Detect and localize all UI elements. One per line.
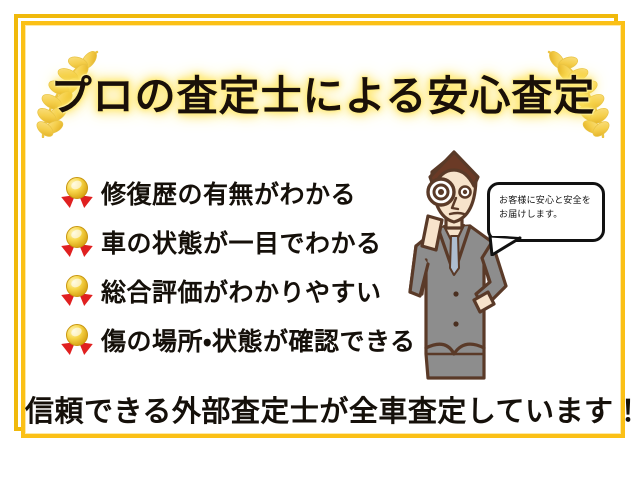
list-item: 車の状態が一目でわかる	[62, 217, 402, 266]
gold-medal-icon	[62, 226, 92, 257]
title-band: プロの査定士による安心査定	[25, 46, 621, 138]
page-title: プロの査定士による安心査定	[25, 46, 621, 138]
feature-label: 傷の場所・状態が確認できる	[101, 322, 416, 358]
banner-canvas: プロの査定士による安心査定 修復歴の有無がわかる 車の状態が一目でわかる	[0, 0, 640, 480]
speech-bubble-tail	[488, 236, 522, 256]
list-item: 修復歴の有無がわかる	[62, 168, 402, 217]
gold-medal-icon	[62, 324, 92, 355]
feature-list: 修復歴の有無がわかる 車の状態が一目でわかる 総合評価がわかりやすい	[62, 168, 402, 364]
medal-disc	[66, 275, 88, 297]
feature-label: 総合評価がわかりやすい	[101, 273, 382, 309]
list-item: 総合評価がわかりやすい	[62, 266, 402, 315]
medal-disc	[66, 177, 88, 199]
speech-bubble-line-2: お届けします。	[499, 208, 594, 222]
feature-label: 車の状態が一目でわかる	[101, 224, 382, 260]
appraiser-illustration	[388, 142, 528, 390]
list-item: 傷の場所・状態が確認できる	[62, 315, 402, 364]
feature-label: 修復歴の有無がわかる	[101, 175, 356, 211]
speech-bubble: お客様に安心と安全を お届けします。	[487, 182, 605, 242]
speech-bubble-line-1: お客様に安心と安全を	[499, 194, 594, 208]
gold-medal-icon	[62, 177, 92, 208]
bottom-headline: 信頼できる外部査定士が全車査定しています！	[25, 388, 621, 430]
gold-medal-icon	[62, 275, 92, 306]
medal-disc	[66, 226, 88, 248]
medal-disc	[66, 324, 88, 346]
